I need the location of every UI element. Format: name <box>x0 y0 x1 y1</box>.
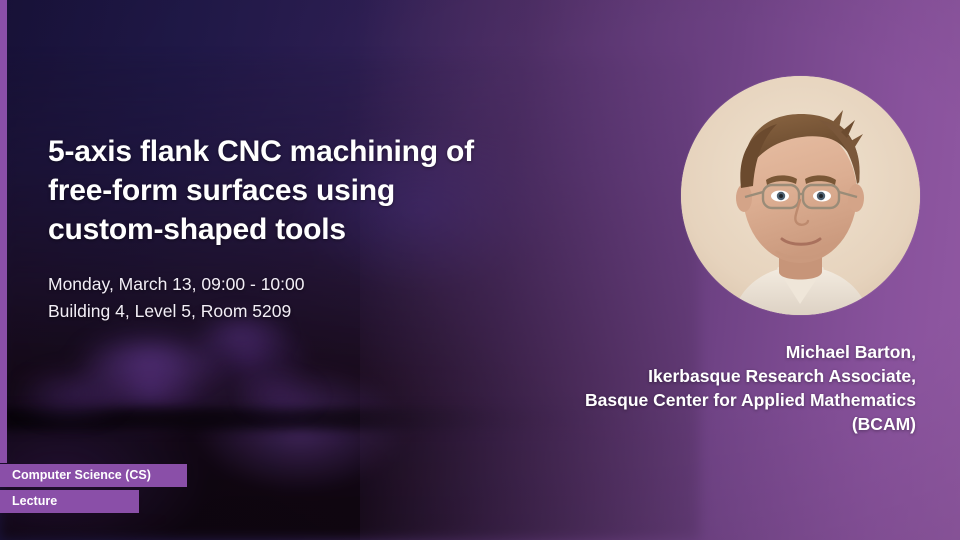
text-content-block: 5-axis flank CNC machining of free-form … <box>48 132 608 325</box>
speaker-name: Michael Barton, <box>416 340 916 364</box>
speaker-affiliation: Basque Center for Applied Mathematics <box>416 388 916 412</box>
title-line-2: free-form surfaces using <box>48 171 608 210</box>
title-line-3: custom-shaped tools <box>48 210 608 249</box>
badge-category[interactable]: Computer Science (CS) <box>0 464 187 487</box>
badge-type[interactable]: Lecture <box>0 490 139 513</box>
portrait-photo-icon <box>681 76 920 315</box>
event-datetime: Monday, March 13, 09:00 - 10:00 <box>48 271 608 298</box>
speaker-affiliation-abbrev: (BCAM) <box>416 412 916 436</box>
speaker-avatar <box>681 76 920 315</box>
event-location: Building 4, Level 5, Room 5209 <box>48 298 608 325</box>
event-slide: 5-axis flank CNC machining of free-form … <box>0 0 960 540</box>
event-meta: Monday, March 13, 09:00 - 10:00 Building… <box>48 271 608 325</box>
speaker-role: Ikerbasque Research Associate, <box>416 364 916 388</box>
badge-group: Computer Science (CS) Lecture <box>0 464 187 516</box>
page-title: 5-axis flank CNC machining of free-form … <box>48 132 608 249</box>
title-line-1: 5-axis flank CNC machining of <box>48 132 608 171</box>
left-accent-bar <box>0 0 7 463</box>
speaker-info: Michael Barton, Ikerbasque Research Asso… <box>416 340 916 436</box>
